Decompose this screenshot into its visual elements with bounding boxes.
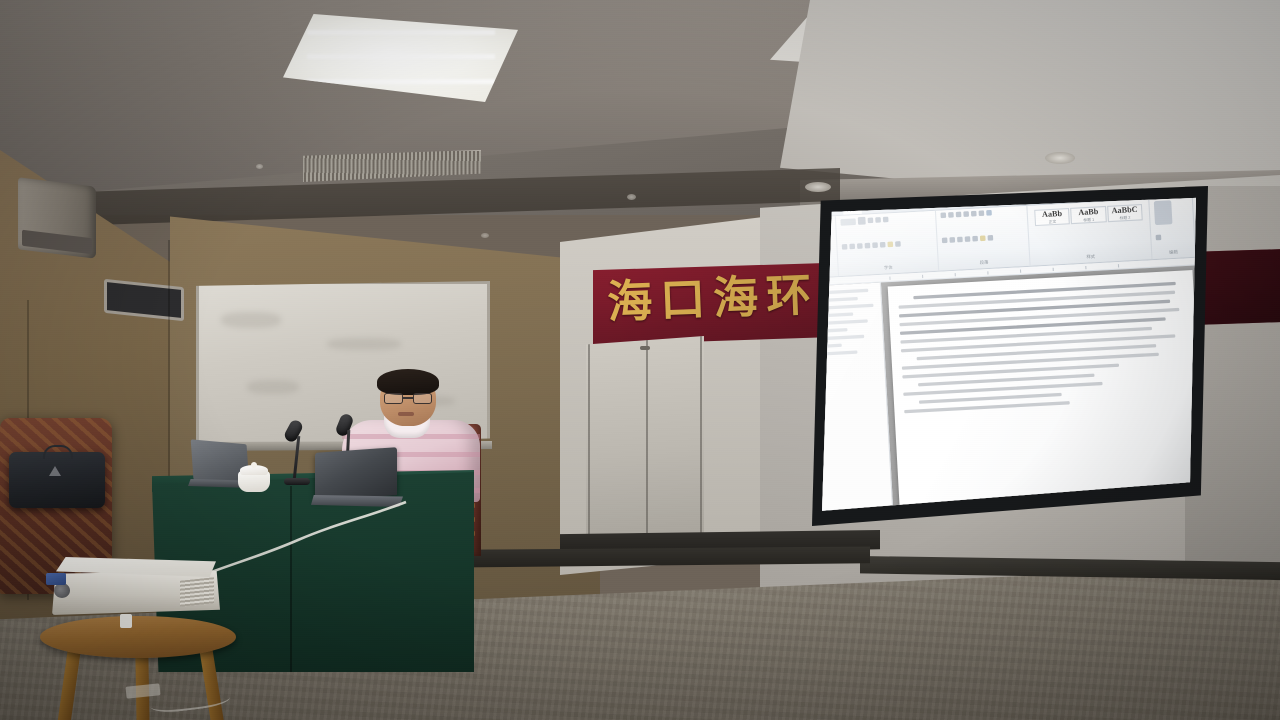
projector-foot [120, 614, 132, 628]
font-size-combo [858, 217, 866, 225]
find-replace-icon [1154, 200, 1173, 225]
style-chip-heading1[interactable]: AaBb 标题 1 [1070, 206, 1106, 224]
clear-format-icon [883, 217, 889, 223]
projector [52, 557, 220, 619]
style-gallery[interactable]: AaBb 正文 AaBb 标题 1 AaBbC 标题 2 [1032, 202, 1145, 229]
navigation-pane[interactable] [822, 283, 893, 511]
justify-icon [965, 236, 971, 242]
table-skirt-fold [290, 486, 292, 672]
ribbon-group-styles[interactable]: AaBb 正文 AaBb 标题 1 AaBbC 标题 2 样式 [1027, 199, 1152, 265]
sort-icon [979, 210, 985, 216]
style-preview: AaBb [1042, 209, 1062, 218]
line-spacing-icon [972, 235, 978, 241]
lecture-room-photo: 海口海环院环境 文件 开始 插入 页面布局 引用 [0, 0, 1280, 720]
style-name: 标题 1 [1083, 218, 1094, 222]
select-icon [1156, 235, 1162, 241]
document-area[interactable] [822, 265, 1196, 511]
align-right-icon [957, 236, 963, 242]
font-color-icon [895, 241, 901, 247]
teacup [238, 462, 270, 492]
downlight-icon [627, 194, 636, 200]
ribbon-group-font[interactable]: 字体 [836, 211, 939, 276]
presenter-hair [377, 369, 439, 395]
style-preview: AaBb [1078, 207, 1098, 216]
superscript-icon [880, 241, 886, 247]
ribbon-group-editing[interactable]: 编辑 [1149, 197, 1196, 259]
downlight-icon [1045, 152, 1075, 164]
multilevel-icon [956, 212, 962, 218]
font-family-combo [840, 218, 856, 225]
style-name: 正文 [1049, 220, 1057, 224]
bold-icon [842, 243, 848, 249]
align-left-icon [942, 237, 948, 243]
door-knob-icon [640, 346, 650, 350]
bullets-icon [940, 212, 946, 218]
projector-lens-icon [54, 583, 70, 598]
style-chip-normal[interactable]: AaBb 正文 [1034, 208, 1070, 226]
subscript-icon [872, 242, 878, 248]
projector-vent-icon [180, 577, 214, 607]
shrink-font-icon [875, 217, 881, 223]
ribbon-group-paragraph[interactable]: 段落 [936, 206, 1031, 271]
laptop-bag [9, 452, 105, 508]
align-center-icon [949, 237, 955, 243]
strikethrough-icon [865, 242, 871, 248]
wall-speaker [18, 177, 96, 259]
show-marks-icon [986, 210, 992, 216]
downlight-icon [481, 233, 489, 238]
projection-screen: 文件 开始 插入 页面布局 引用 邮件 审阅 视图 剪贴板 [822, 196, 1196, 514]
group-label-paragraph: 段落 [943, 257, 1025, 268]
downlight-icon [256, 164, 263, 169]
style-chip-heading2[interactable]: AaBbC 标题 2 [1107, 204, 1143, 222]
word-window: 文件 开始 插入 页面布局 引用 邮件 审阅 视图 剪贴板 [822, 196, 1196, 514]
underline-icon [857, 243, 863, 249]
downlight-icon [805, 182, 831, 192]
borders-icon [987, 234, 993, 240]
document-page[interactable] [888, 270, 1196, 506]
increase-indent-icon [971, 211, 977, 217]
bag-logo-icon [49, 466, 61, 476]
presenter-laptop[interactable] [311, 450, 397, 510]
highlight-icon [887, 241, 893, 247]
shading-icon [980, 235, 986, 241]
decrease-indent-icon [963, 211, 969, 217]
partition-doors[interactable] [586, 336, 704, 548]
style-preview: AaBbC [1111, 205, 1137, 215]
style-name: 标题 2 [1120, 216, 1131, 220]
group-label-editing: 编辑 [1156, 248, 1190, 256]
presenter-mouth [398, 412, 414, 416]
italic-icon [849, 243, 855, 249]
grow-font-icon [868, 217, 874, 223]
numbering-icon [948, 212, 954, 218]
glasses-icon [383, 393, 433, 404]
projector-plug-icon [46, 573, 66, 585]
